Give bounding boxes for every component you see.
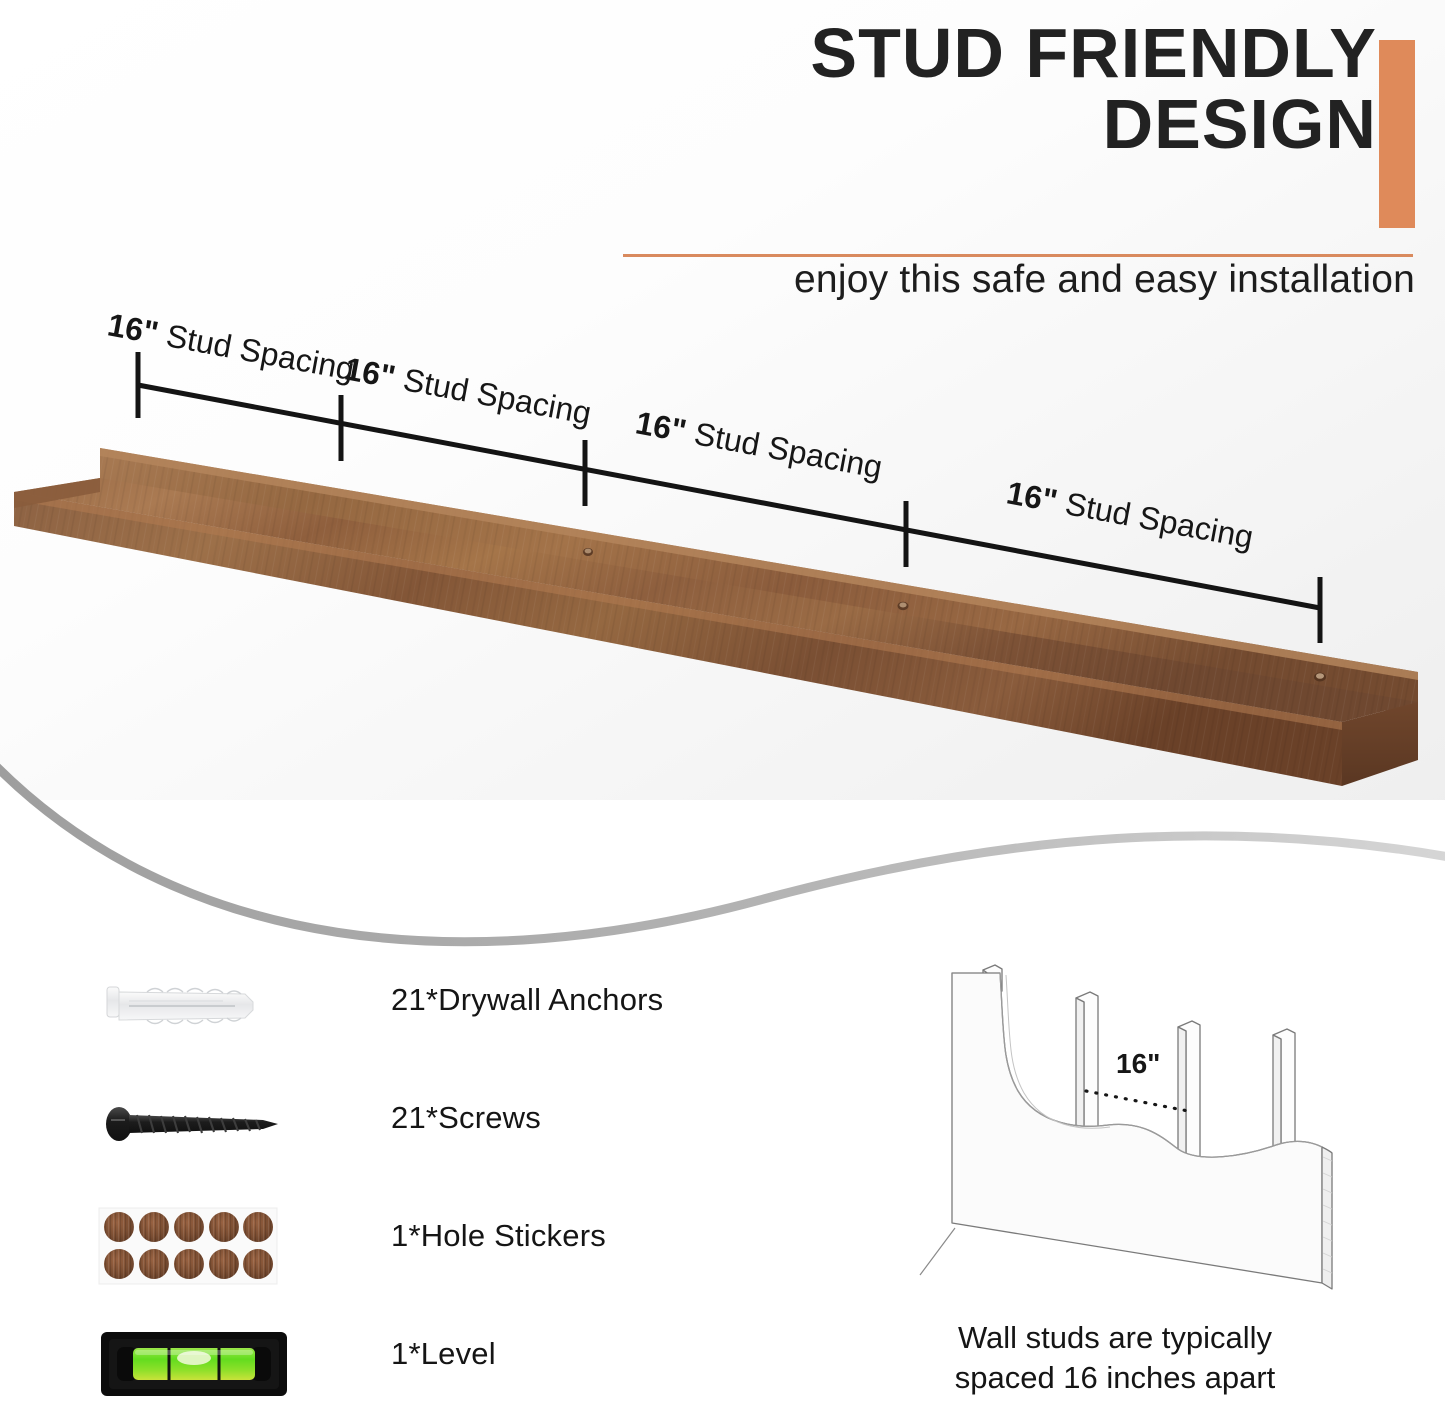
accent-bar [1379,40,1415,228]
part-label-screws: 21*Screws [391,1100,541,1136]
included-parts-list: 21*Drywall Anchors [95,960,735,1420]
spacing-label: 16" [1116,1048,1160,1079]
part-label-drywall-anchors: 21*Drywall Anchors [391,982,663,1018]
part-row-drywall-anchors: 21*Drywall Anchors [95,960,735,1078]
part-label-level: 1*Level [391,1336,496,1372]
floating-shelf-product-image [0,430,1445,830]
level-icon [95,1314,305,1414]
part-label-hole-stickers: 1*Hole Stickers [391,1218,606,1254]
drywall-anchor-icon [95,960,305,1060]
wall-cutaway-illustration: 16" [890,945,1360,1305]
page-title: STUD FRIENDLY DESIGN [615,18,1415,161]
spacing-dotted-line [1086,1091,1188,1111]
infographic-canvas: STUD FRIENDLY DESIGN enjoy this safe and… [0,0,1445,1420]
screw-icon [95,1078,305,1178]
title-line-2: DESIGN [615,89,1377,160]
wall-stud-diagram: 16" [890,945,1360,1305]
part-row-level: 1*Level [95,1314,735,1420]
stud-3 [1178,1021,1200,1167]
caption-line-1: Wall studs are typically [880,1318,1350,1358]
header-divider-rule [623,254,1413,257]
header-block: STUD FRIENDLY DESIGN [615,18,1415,268]
wall-diagram-caption: Wall studs are typically spaced 16 inche… [880,1318,1350,1397]
caption-line-2: spaced 16 inches apart [880,1358,1350,1398]
part-row-hole-stickers: 1*Hole Stickers [95,1196,735,1314]
part-row-screws: 21*Screws [95,1078,735,1196]
hole-stickers-icon [95,1196,305,1296]
title-line-1: STUD FRIENDLY [615,18,1377,89]
stud-4 [1273,1029,1295,1157]
